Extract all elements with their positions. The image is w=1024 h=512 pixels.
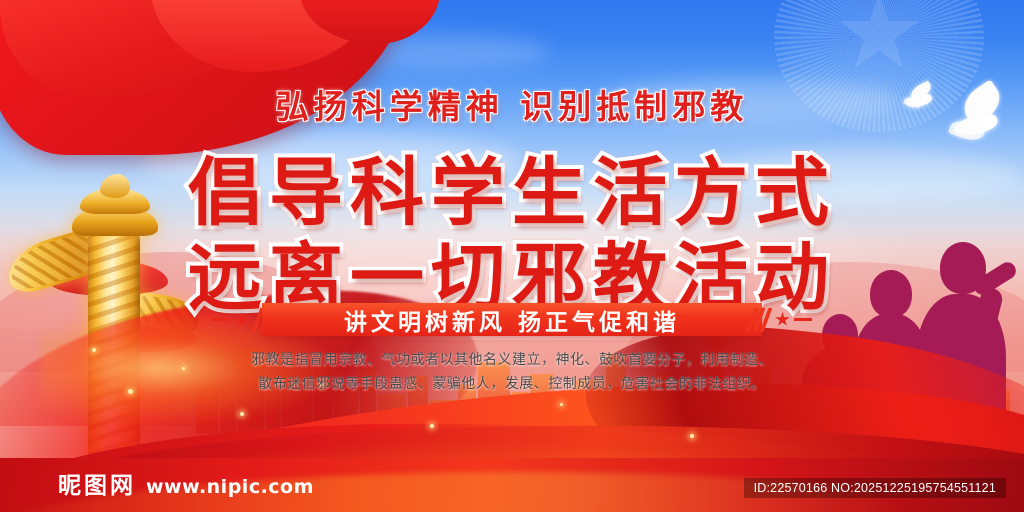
- poster-subtitle: 弘扬科学精神 识别抵制邪教: [0, 80, 1024, 128]
- light-particle: [690, 434, 694, 438]
- slogan-banner: 讲文明树新风 扬正气促和谐: [262, 303, 762, 336]
- star-icon: [775, 312, 790, 327]
- body-line-2: 散布迷信邪说等手段蛊惑、蒙骗他人，发展、控制成员，危害社会的非法组织。: [0, 372, 1024, 396]
- slogan-text: 讲文明树新风 扬正气促和谐: [344, 303, 680, 337]
- body-paragraph: 邪教是指冒用宗教、气功或者以其他名义建立，神化、鼓吹首要分子，利用制造、 散布迷…: [0, 348, 1024, 396]
- star-icon: [234, 312, 249, 327]
- decor-slash-bars: [750, 308, 768, 332]
- light-particle: [240, 412, 244, 416]
- body-line-1: 邪教是指冒用宗教、气功或者以其他名义建立，神化、鼓吹首要分子，利用制造、: [0, 348, 1024, 372]
- decor-dash: [794, 318, 812, 321]
- watermark-url: www.nipic.com: [146, 476, 314, 498]
- poster-canvas: 弘扬科学精神 识别抵制邪教 倡导科学生活方式 远离一切邪教活动 讲文明树新风 扬…: [0, 0, 1024, 512]
- watermark-cn: 昵图网: [58, 466, 136, 500]
- light-particle: [430, 424, 434, 428]
- light-particle: [560, 403, 563, 406]
- decor-dash: [212, 318, 230, 321]
- slogan-decor-right: [747, 303, 812, 336]
- site-watermark: 昵图网 www.nipic.com: [58, 466, 314, 500]
- image-id-badge: ID:22570166 NO:20251225195754551121: [744, 478, 1006, 498]
